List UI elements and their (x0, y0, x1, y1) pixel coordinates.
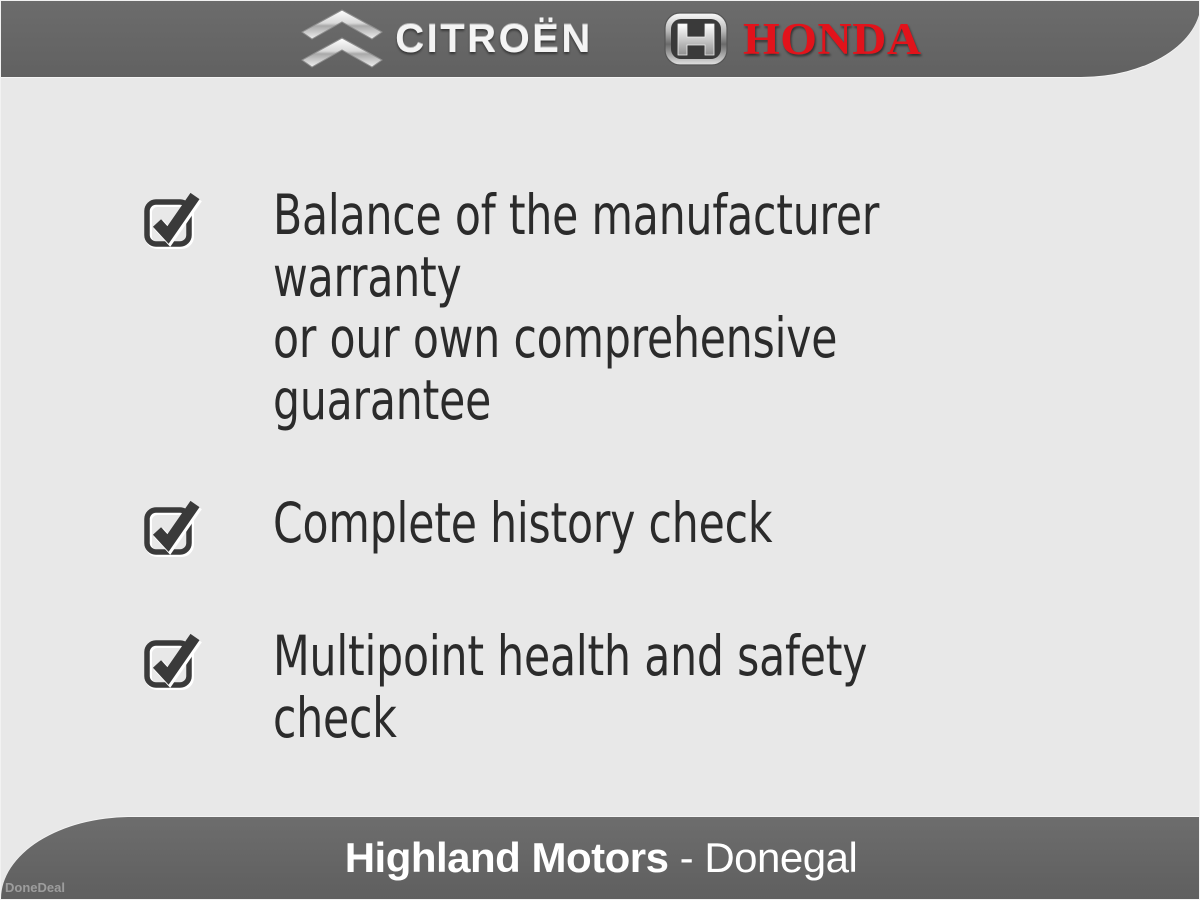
list-item-label: Multipoint health and safety check (273, 626, 1002, 749)
checkbox-checked-icon (141, 626, 203, 697)
brand-citroen: CITROËN (299, 8, 593, 70)
brand-logo-row: CITROËN (299, 8, 913, 70)
brand-header-bar: CITROËN (1, 1, 1200, 77)
dealer-footer-bar: Highland Motors - Donegal (1, 817, 1200, 899)
list-item: Multipoint health and safety check (141, 626, 1121, 749)
list-item-label: Complete history check (273, 493, 772, 555)
dealer-name: Highland Motors (345, 834, 669, 881)
list-item: Complete history check (141, 493, 1121, 564)
checklist-content-area: Balance of the manufacturer warranty or … (1, 77, 1200, 819)
checklist: Balance of the manufacturer warranty or … (141, 185, 1121, 883)
honda-h-emblem-icon (663, 10, 729, 68)
citroen-double-chevron-icon (299, 8, 385, 70)
dealer-title: Highland Motors - Donegal (345, 834, 858, 882)
promo-slide: CITROËN (0, 0, 1200, 900)
list-item-label: Balance of the manufacturer warranty or … (273, 185, 1002, 431)
citroen-wordmark: CITROËN (395, 19, 593, 59)
checkbox-checked-icon (141, 493, 203, 564)
dealer-separator: - (669, 834, 705, 881)
honda-wordmark: HONDA (743, 17, 922, 62)
checkbox-checked-icon (141, 185, 203, 256)
list-item: Balance of the manufacturer warranty or … (141, 185, 1121, 431)
dealer-location: Donegal (704, 834, 857, 881)
brand-honda: HONDA (663, 10, 913, 68)
